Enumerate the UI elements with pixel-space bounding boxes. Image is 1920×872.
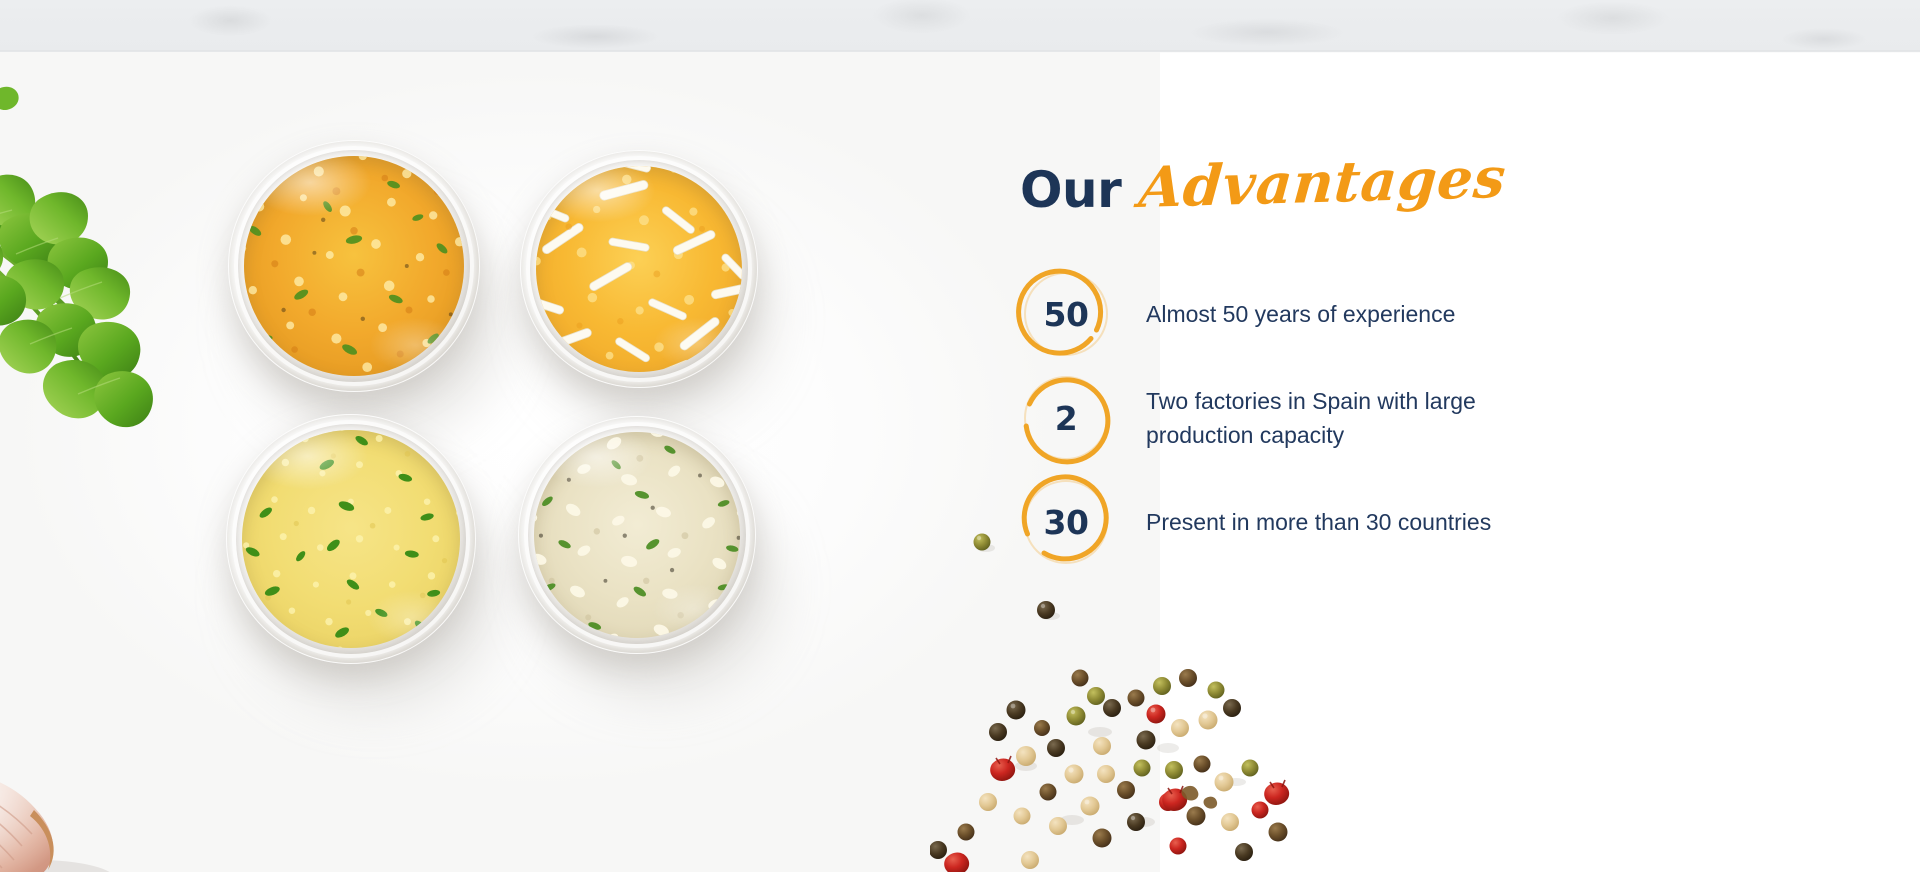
breadcrumb-contents	[244, 156, 464, 376]
breadcrumb-contents	[242, 430, 460, 648]
bowl-panko-herb-breadcrumbs	[518, 416, 756, 654]
badge-2: 2	[1020, 372, 1112, 464]
bowl-orange-herb-breadcrumbs	[228, 140, 480, 392]
advantage-description: Almost 50 years of experience	[1146, 297, 1455, 331]
badge-number: 30	[1044, 506, 1089, 539]
parsley-fragment	[0, 76, 28, 116]
advantage-description: Two factories in Spain with large produc…	[1146, 384, 1566, 452]
bowl-cheese-breadcrumbs	[520, 150, 758, 388]
bowl-fine-yellow-breadcrumbs	[226, 414, 476, 664]
badge-number: 50	[1044, 298, 1089, 331]
badge-30: 30	[1020, 476, 1112, 568]
advantage-description: Present in more than 30 countries	[1146, 505, 1491, 539]
title-accent: Advantages	[1137, 150, 1508, 216]
advantage-item-experience: 50 Almost 50 years of experience	[1020, 262, 1780, 366]
garlic-clove	[0, 742, 120, 872]
breadcrumb-contents	[536, 166, 742, 372]
breadcrumb-contents	[534, 432, 740, 638]
advantage-item-countries: 30 Present in more than 30 countries	[1020, 470, 1780, 574]
advantages-section: OurAdvantages 50 Almost 50 years of expe…	[0, 0, 1920, 872]
top-texture-band	[0, 0, 1920, 52]
badge-number: 2	[1055, 402, 1077, 435]
badge-50: 50	[1020, 268, 1112, 360]
page-title: OurAdvantages	[1020, 160, 1780, 216]
advantages-content: OurAdvantages 50 Almost 50 years of expe…	[1020, 160, 1780, 574]
title-primary: Our	[1020, 165, 1121, 215]
parsley-sprig	[0, 112, 210, 442]
product-photo	[0, 52, 1160, 872]
advantages-list: 50 Almost 50 years of experience 2 Two f…	[1020, 262, 1780, 574]
advantage-item-factories: 2 Two factories in Spain with large prod…	[1020, 366, 1780, 470]
